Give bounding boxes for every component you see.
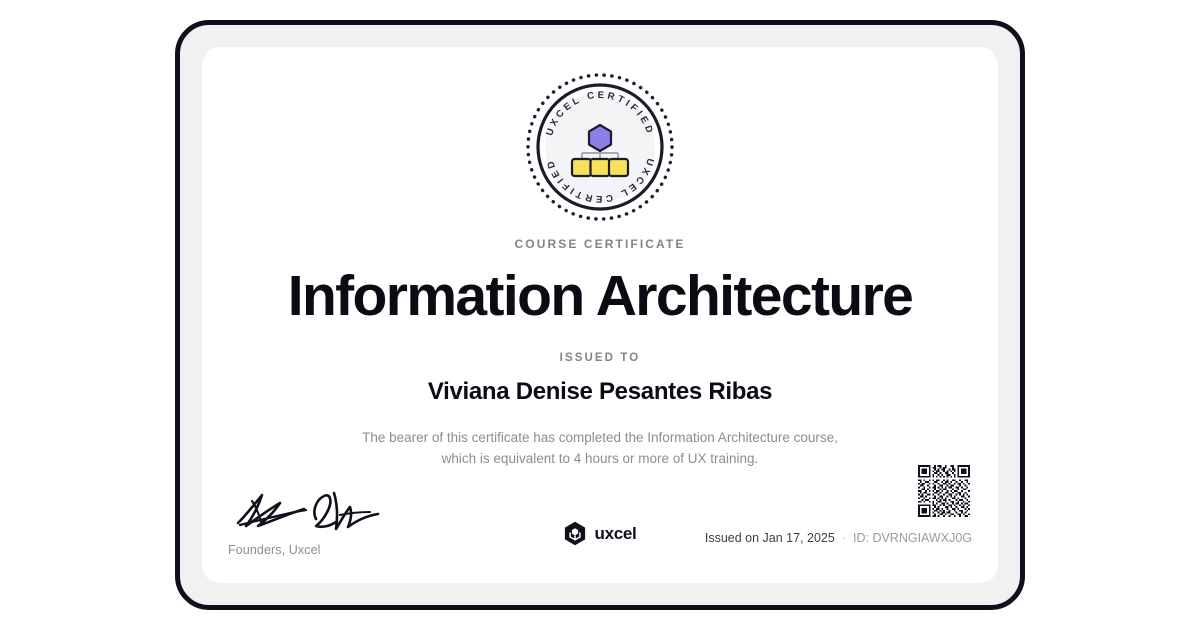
certificate-meta: Issued on Jan 17, 2025 · ID: DVRNGIAWXJ0… — [705, 531, 972, 545]
certified-badge-seal: UXCEL CERTIFIED UXCEL CERTIFIED — [522, 69, 678, 225]
course-certificate-eyebrow: COURSE CERTIFICATE — [515, 237, 686, 251]
description-line-1: The bearer of this certificate has compl… — [362, 430, 838, 445]
verification-qr-code[interactable] — [918, 465, 970, 517]
certificate-description: The bearer of this certificate has compl… — [362, 428, 838, 470]
founder-signatures-icon — [228, 485, 393, 537]
certificate-footer: Founders, Uxcel uxcel — [228, 465, 972, 565]
uxcel-wordmark: uxcel — [595, 524, 637, 544]
page-background: UXCEL CERTIFIED UXCEL CERTIFIED — [0, 0, 1200, 630]
meta-separator: · — [842, 531, 846, 545]
description-line-2: which is equivalent to 4 hours or more o… — [442, 451, 759, 466]
leaf-nodes — [572, 159, 628, 176]
uxcel-hexagon-logo-icon — [564, 521, 587, 546]
signature-block: Founders, Uxcel — [228, 485, 428, 557]
certificate-card: UXCEL CERTIFIED UXCEL CERTIFIED — [202, 47, 998, 583]
course-title: Information Architecture — [288, 267, 913, 326]
certificate-frame: UXCEL CERTIFIED UXCEL CERTIFIED — [175, 20, 1025, 610]
signature-caption: Founders, Uxcel — [228, 543, 428, 557]
recipient-name: Viviana Denise Pesantes Ribas — [428, 378, 772, 406]
uxcel-brand: uxcel — [564, 521, 637, 546]
certificate-id: ID: DVRNGIAWXJ0G — [853, 531, 972, 545]
hexagon-node-icon — [589, 125, 611, 151]
issued-to-label: ISSUED TO — [560, 352, 641, 364]
issued-on-date: Issued on Jan 17, 2025 — [705, 531, 835, 545]
